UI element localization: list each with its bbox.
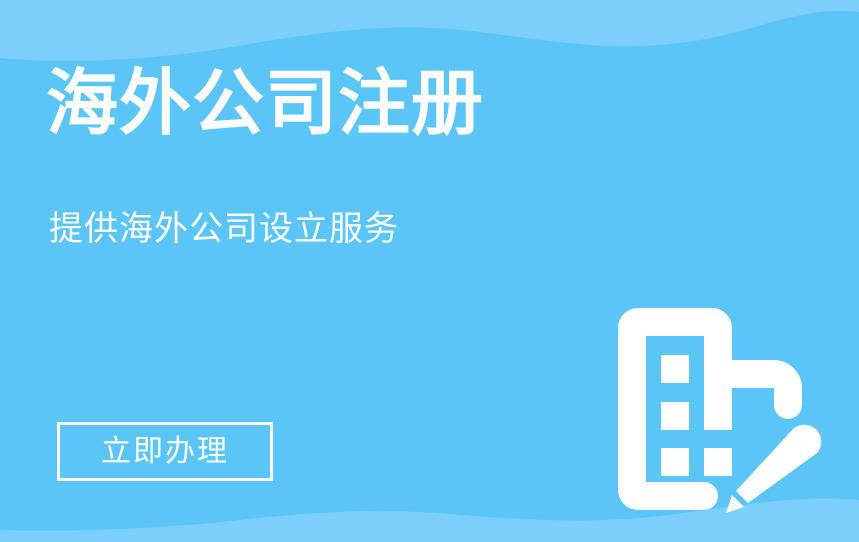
apply-now-button-label: 立即办理 xyxy=(101,437,229,467)
building-window xyxy=(704,448,732,476)
pencil-body-shape xyxy=(736,425,821,503)
building-window xyxy=(661,355,689,383)
apply-now-button[interactable]: 立即办理 xyxy=(57,422,273,481)
overseas-company-registration-banner: 海外公司注册 提供海外公司设立服务 立即办理 xyxy=(0,0,859,542)
page-subtitle: 提供海外公司设立服务 xyxy=(49,209,399,250)
building-wing-shape xyxy=(732,360,802,419)
building-edit-icon xyxy=(608,298,824,520)
building-window xyxy=(704,355,732,383)
banner-content: 海外公司注册 提供海外公司设立服务 立即办理 xyxy=(0,0,859,542)
building-window xyxy=(661,448,689,476)
building-window xyxy=(661,402,689,430)
pencil-tip-shape xyxy=(726,495,744,513)
page-title: 海外公司注册 xyxy=(46,68,484,140)
building-window xyxy=(704,402,732,430)
